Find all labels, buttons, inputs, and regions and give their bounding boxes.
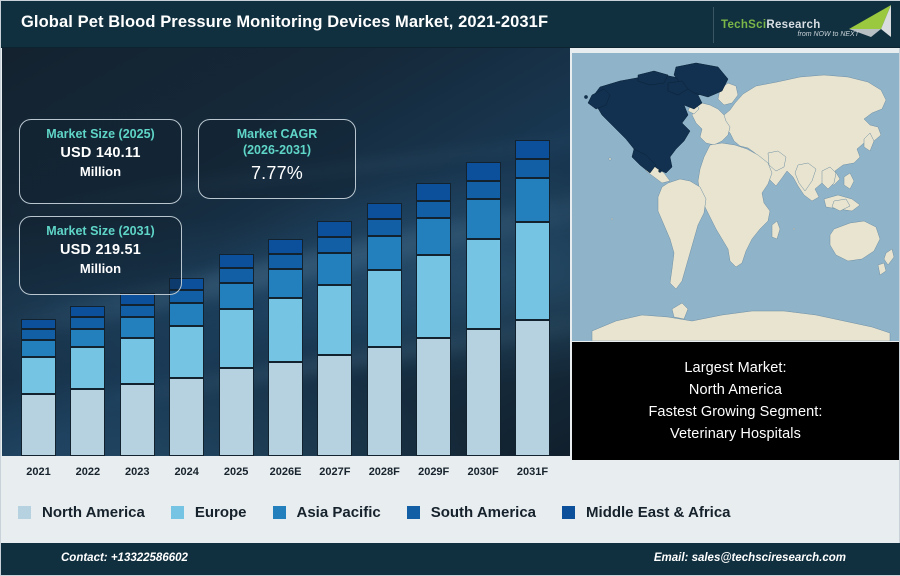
bar-2029F	[416, 183, 451, 456]
legend-color-swatch	[171, 506, 184, 519]
bar-segment-asia-pacific	[367, 236, 402, 271]
stat-box-market-size-2031: Market Size (2031) USD 219.51 Million	[19, 216, 182, 295]
bar-segment-middle-east-africa	[120, 293, 155, 305]
chart-legend: North AmericaEuropeAsia PacificSouth Ame…	[2, 484, 899, 540]
legend-color-swatch	[18, 506, 31, 519]
x-axis-label-2029F: 2029F	[407, 466, 461, 478]
x-axis-label-2022: 2022	[61, 466, 115, 478]
bar-segment-asia-pacific	[70, 329, 105, 348]
footer-email: Email: sales@techsciresearch.com	[654, 552, 846, 564]
legend-label: South America	[431, 504, 536, 521]
bar-2021	[21, 319, 56, 456]
bar-segment-north-america	[268, 362, 303, 456]
bar-2028F	[367, 203, 402, 456]
company-logo: TechSciResearch from NOW to NEXT	[713, 3, 893, 46]
bar-segment-asia-pacific	[515, 178, 550, 222]
island-dot	[793, 228, 795, 230]
x-axis-label-2021: 2021	[12, 466, 66, 478]
fastest-segment-label: Fastest Growing Segment:	[648, 401, 822, 423]
bar-segment-middle-east-africa	[317, 221, 352, 237]
legend-item-asia-pacific[interactable]: Asia Pacific	[273, 504, 381, 521]
x-axis-label-2028F: 2028F	[357, 466, 411, 478]
stat-unit: Million	[20, 261, 181, 278]
world-map-svg	[572, 53, 899, 341]
bar-segment-europe	[21, 357, 56, 394]
bar-segment-middle-east-africa	[416, 183, 451, 201]
bar-segment-north-america	[367, 347, 402, 456]
bar-segment-middle-east-africa	[515, 140, 550, 159]
island-dot	[611, 218, 613, 220]
bar-segment-europe	[169, 326, 204, 377]
bar-segment-asia-pacific	[268, 269, 303, 298]
infographic-root: Global Pet Blood Pressure Monitoring Dev…	[0, 0, 900, 576]
bar-segment-middle-east-africa	[219, 254, 254, 268]
bar-segment-north-america	[70, 389, 105, 456]
x-axis-label-2030F: 2030F	[456, 466, 510, 478]
bar-segment-asia-pacific	[120, 317, 155, 338]
bar-segment-europe	[317, 285, 352, 355]
logo-wordmark: TechSciResearch	[721, 19, 821, 31]
bar-2031F	[515, 140, 550, 456]
bar-segment-asia-pacific	[416, 218, 451, 255]
bar-segment-south-america	[515, 159, 550, 178]
bar-segment-north-america	[219, 368, 254, 456]
stat-label-2: (2026-2031)	[199, 143, 355, 159]
bar-segment-middle-east-africa	[70, 306, 105, 317]
bar-segment-asia-pacific	[169, 303, 204, 326]
bar-segment-europe	[515, 222, 550, 320]
stat-value: 7.77%	[199, 160, 355, 186]
bar-segment-north-america	[515, 320, 550, 456]
stat-unit: Million	[20, 164, 181, 181]
stat-label: Market Size (2025)	[20, 127, 181, 143]
logo-brand-part1: TechSci	[721, 19, 766, 31]
bar-segment-europe	[466, 239, 501, 329]
footer-bar: Contact: +13322586602 Email: sales@techs…	[1, 543, 900, 575]
bar-segment-asia-pacific	[219, 283, 254, 310]
bar-segment-europe	[70, 347, 105, 389]
stat-box-market-cagr: Market CAGR (2026-2031) 7.77%	[198, 119, 356, 199]
world-map	[572, 53, 899, 341]
stat-label: Market CAGR	[199, 127, 355, 143]
largest-market-value: North America	[689, 379, 782, 401]
bar-segment-middle-east-africa	[466, 162, 501, 181]
bar-segment-south-america	[416, 201, 451, 218]
stat-value: USD 219.51	[20, 240, 181, 261]
legend-color-swatch	[562, 506, 575, 519]
footer-contact: Contact: +13322586602	[61, 552, 188, 564]
stat-label: Market Size (2031)	[20, 224, 181, 240]
logo-brand-part2: Research	[766, 19, 820, 31]
bar-2022	[70, 306, 105, 456]
legend-item-north-america[interactable]: North America	[18, 504, 145, 521]
x-axis-label-2027F: 2027F	[308, 466, 362, 478]
x-axis-label-2031F: 2031F	[506, 466, 560, 478]
x-axis-label-2024: 2024	[160, 466, 214, 478]
stat-value: USD 140.11	[20, 143, 181, 164]
bar-segment-north-america	[317, 355, 352, 456]
fastest-segment-value: Veterinary Hospitals	[670, 423, 801, 445]
bar-segment-asia-pacific	[317, 253, 352, 285]
bar-segment-north-america	[169, 378, 204, 456]
legend-label: Asia Pacific	[297, 504, 381, 521]
bar-segment-europe	[219, 309, 254, 368]
legend-item-south-america[interactable]: South America	[407, 504, 536, 521]
x-axis-label-2026E: 2026E	[259, 466, 313, 478]
legend-color-swatch	[407, 506, 420, 519]
bar-segment-south-america	[219, 268, 254, 282]
bar-segment-europe	[268, 298, 303, 362]
legend-label: Europe	[195, 504, 247, 521]
stat-box-market-size-2025: Market Size (2025) USD 140.11 Million	[19, 119, 182, 204]
bar-2030F	[466, 162, 501, 456]
bar-2027F	[317, 221, 352, 456]
chart-panel: Market Size (2025) USD 140.11 Million Ma…	[2, 48, 570, 483]
island-dot-highlight	[584, 95, 587, 98]
bar-2025	[219, 254, 254, 456]
bar-segment-north-america	[120, 384, 155, 456]
bar-segment-south-america	[466, 181, 501, 199]
x-axis: 202120222023202420252026E2027F2028F2029F…	[2, 456, 570, 483]
bar-segment-south-america	[367, 219, 402, 236]
bar-segment-south-america	[120, 305, 155, 317]
bar-segment-asia-pacific	[466, 199, 501, 239]
legend-item-europe[interactable]: Europe	[171, 504, 247, 521]
legend-label: North America	[42, 504, 145, 521]
bar-segment-south-america	[317, 237, 352, 253]
bar-segment-asia-pacific	[21, 340, 56, 357]
bar-segment-north-america	[466, 329, 501, 456]
bar-segment-south-america	[21, 329, 56, 340]
bar-segment-north-america	[416, 338, 451, 456]
legend-item-middle-east-africa[interactable]: Middle East & Africa	[562, 504, 730, 521]
key-insights-callout: Largest Market: North America Fastest Gr…	[572, 342, 899, 460]
legend-color-swatch	[273, 506, 286, 519]
x-axis-label-2023: 2023	[110, 466, 164, 478]
island-dot-highlight	[659, 170, 662, 173]
largest-market-label: Largest Market:	[684, 357, 786, 379]
bar-segment-europe	[120, 338, 155, 384]
legend-label: Middle East & Africa	[586, 504, 730, 521]
bar-segment-south-america	[70, 317, 105, 329]
bar-segment-europe	[367, 270, 402, 346]
bar-segment-south-america	[268, 254, 303, 269]
bar-segment-middle-east-africa	[367, 203, 402, 220]
x-axis-label-2025: 2025	[209, 466, 263, 478]
island-dot	[609, 158, 611, 160]
header-bar: Global Pet Blood Pressure Monitoring Dev…	[1, 1, 900, 48]
bar-segment-middle-east-africa	[21, 319, 56, 329]
bar-2026E	[268, 239, 303, 456]
logo-tagline: from NOW to NEXT	[798, 31, 859, 38]
bar-segment-europe	[416, 255, 451, 338]
bar-2024	[169, 278, 204, 456]
page-title: Global Pet Blood Pressure Monitoring Dev…	[21, 13, 548, 32]
bar-2023	[120, 293, 155, 456]
logo-divider	[713, 7, 714, 43]
bar-segment-middle-east-africa	[268, 239, 303, 254]
bar-segment-north-america	[21, 394, 56, 456]
